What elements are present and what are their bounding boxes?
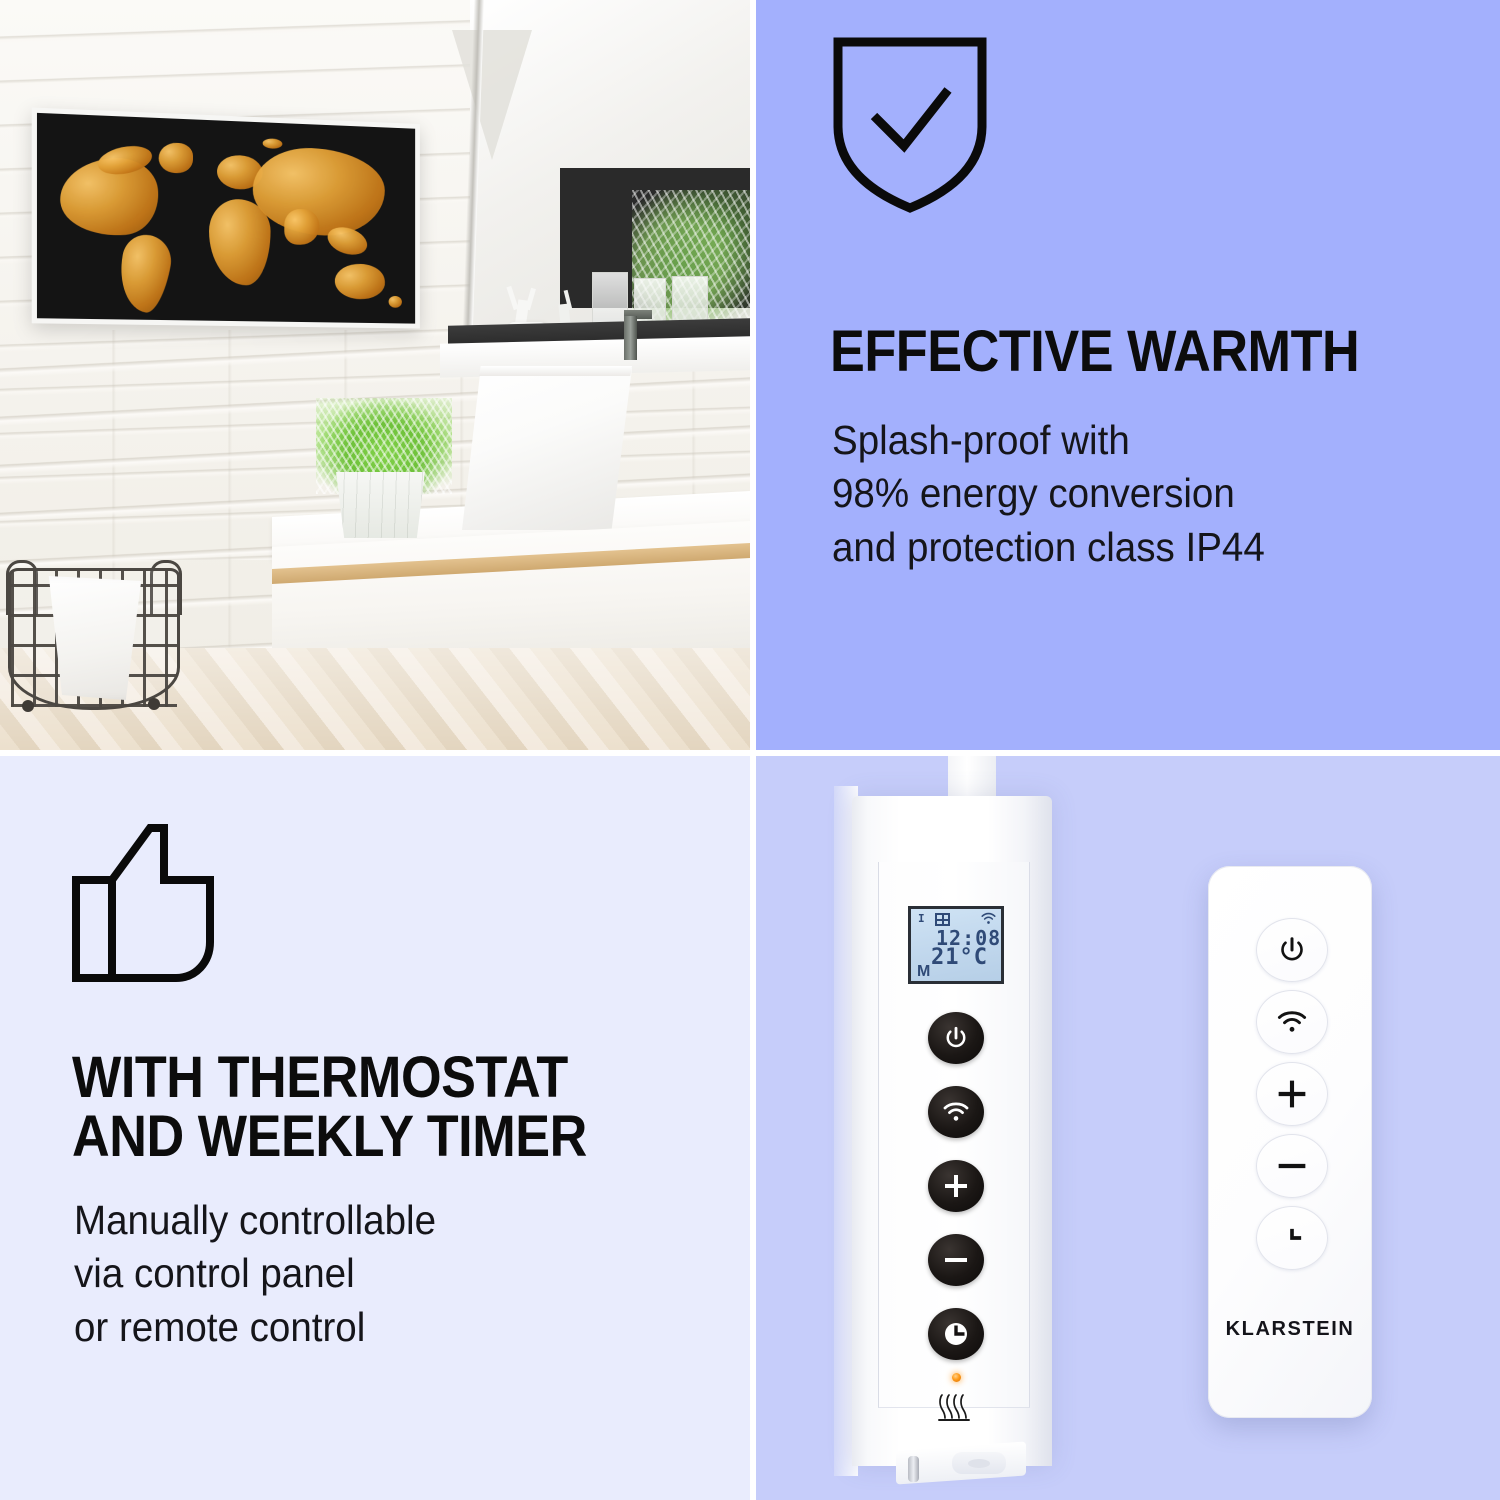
plus-icon <box>942 1172 970 1200</box>
remote-power-button[interactable] <box>1256 918 1328 982</box>
thermostat-title: WITH THERMOSTAT AND WEEKLY TIMER <box>72 1048 587 1166</box>
remote-wifi-button[interactable] <box>1256 990 1328 1054</box>
panel-increase-button[interactable] <box>928 1160 984 1212</box>
panel-decrease-button[interactable] <box>928 1234 984 1286</box>
wifi-icon <box>1276 1009 1308 1035</box>
bathroom-photo-panel <box>0 0 750 750</box>
wifi-icon <box>980 912 997 926</box>
window-detection-icon <box>935 913 950 926</box>
heat-waves-icon <box>936 1392 976 1422</box>
lcd-display: I 12:08 21°C M <box>908 906 1004 984</box>
panel-wifi-button[interactable] <box>928 1086 984 1138</box>
brand-logo: KLARSTEIN <box>1208 1318 1372 1341</box>
plant-pot <box>330 472 431 538</box>
thumbs-up-icon <box>68 824 240 991</box>
page-title: EFFECTIVE WARMTH <box>830 322 1359 381</box>
remote-timer-button[interactable] <box>1256 1206 1328 1270</box>
map-australia <box>333 262 386 302</box>
panel-power-button[interactable] <box>928 1012 984 1064</box>
faucet-body <box>624 316 637 360</box>
device-controls-panel: I 12:08 21°C M <box>756 756 1500 1500</box>
product-feature-collage: EFFECTIVE WARMTH Splash-proof with 98% e… <box>0 0 1500 1500</box>
warmth-description: Splash-proof with 98% energy conversion … <box>832 414 1265 574</box>
map-greenland <box>159 142 193 173</box>
heating-indicator-led <box>952 1373 961 1382</box>
effective-warmth-panel: EFFECTIVE WARMTH Splash-proof with 98% e… <box>756 0 1500 750</box>
glass-vase <box>592 272 628 326</box>
bracket-pad <box>952 1452 1006 1474</box>
power-icon <box>943 1025 969 1051</box>
plus-icon <box>1275 1077 1309 1111</box>
thermostat-panel: WITH THERMOSTAT AND WEEKLY TIMER Manuall… <box>0 756 750 1500</box>
washbasin-rim <box>462 366 632 376</box>
minus-icon <box>942 1246 970 1274</box>
remote-control: KLARSTEIN <box>1208 866 1372 1418</box>
lcd-mode-badge: M <box>917 963 931 981</box>
remote-increase-button[interactable] <box>1256 1062 1328 1126</box>
shield-check-icon <box>824 30 996 221</box>
panel-timer-button[interactable] <box>928 1308 984 1360</box>
heater-scene: I 12:08 21°C M <box>756 756 1500 1500</box>
bracket-screw <box>908 1456 919 1482</box>
power-icon <box>1277 935 1307 965</box>
minus-icon <box>1275 1149 1309 1183</box>
lcd-temperature: 21°C <box>931 945 988 970</box>
lcd-mode-indicator: I <box>918 912 926 925</box>
map-islands <box>263 138 283 149</box>
remote-decrease-button[interactable] <box>1256 1134 1328 1198</box>
map-new-zealand <box>389 296 402 308</box>
mirror-reflection-highlight <box>452 30 532 160</box>
washbasin <box>462 368 632 530</box>
infrared-heating-panel-artwork <box>32 108 420 329</box>
clock-icon <box>1276 1222 1308 1254</box>
lcd-screen-content: I 12:08 21°C M <box>911 909 1001 981</box>
map-india <box>284 209 319 246</box>
basket-foot <box>148 698 160 710</box>
basket-foot <box>22 700 34 712</box>
clock-icon <box>942 1320 970 1348</box>
map-south-america <box>114 231 176 316</box>
thermostat-description: Manually controllable via control panel … <box>74 1194 436 1354</box>
wifi-icon <box>942 1100 970 1124</box>
